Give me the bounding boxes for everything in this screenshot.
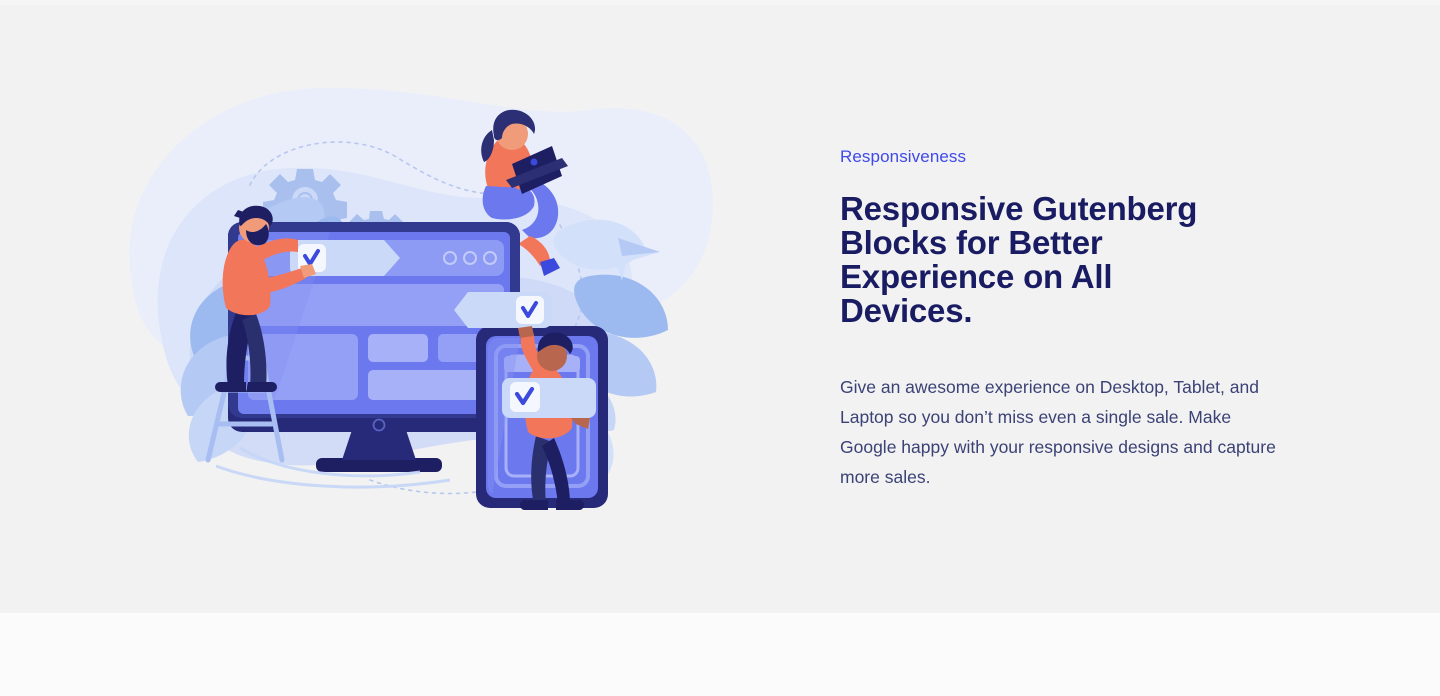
text-column: Responsiveness Responsive Gutenberg Bloc…	[820, 0, 1440, 613]
feature-section-inner: Responsiveness Responsive Gutenberg Bloc…	[0, 0, 1440, 613]
feature-text-block: Responsiveness Responsive Gutenberg Bloc…	[840, 146, 1310, 492]
feature-section: Responsiveness Responsive Gutenberg Bloc…	[0, 0, 1440, 613]
check-badge-tablet-bottom	[502, 378, 596, 418]
check-badge-tablet-top	[454, 292, 552, 328]
illustration-column	[0, 0, 820, 613]
monitor-base	[316, 458, 442, 472]
responsive-devices-illustration	[120, 80, 720, 520]
monitor-neck	[342, 430, 416, 460]
body-paragraph: Give an awesome experience on Desktop, T…	[840, 372, 1280, 492]
below-section-area	[0, 613, 1440, 696]
eyebrow-label: Responsiveness	[840, 146, 1310, 168]
page-root: Responsiveness Responsive Gutenberg Bloc…	[0, 0, 1440, 696]
page-title: Responsive Gutenberg Blocks for Better E…	[840, 192, 1210, 328]
